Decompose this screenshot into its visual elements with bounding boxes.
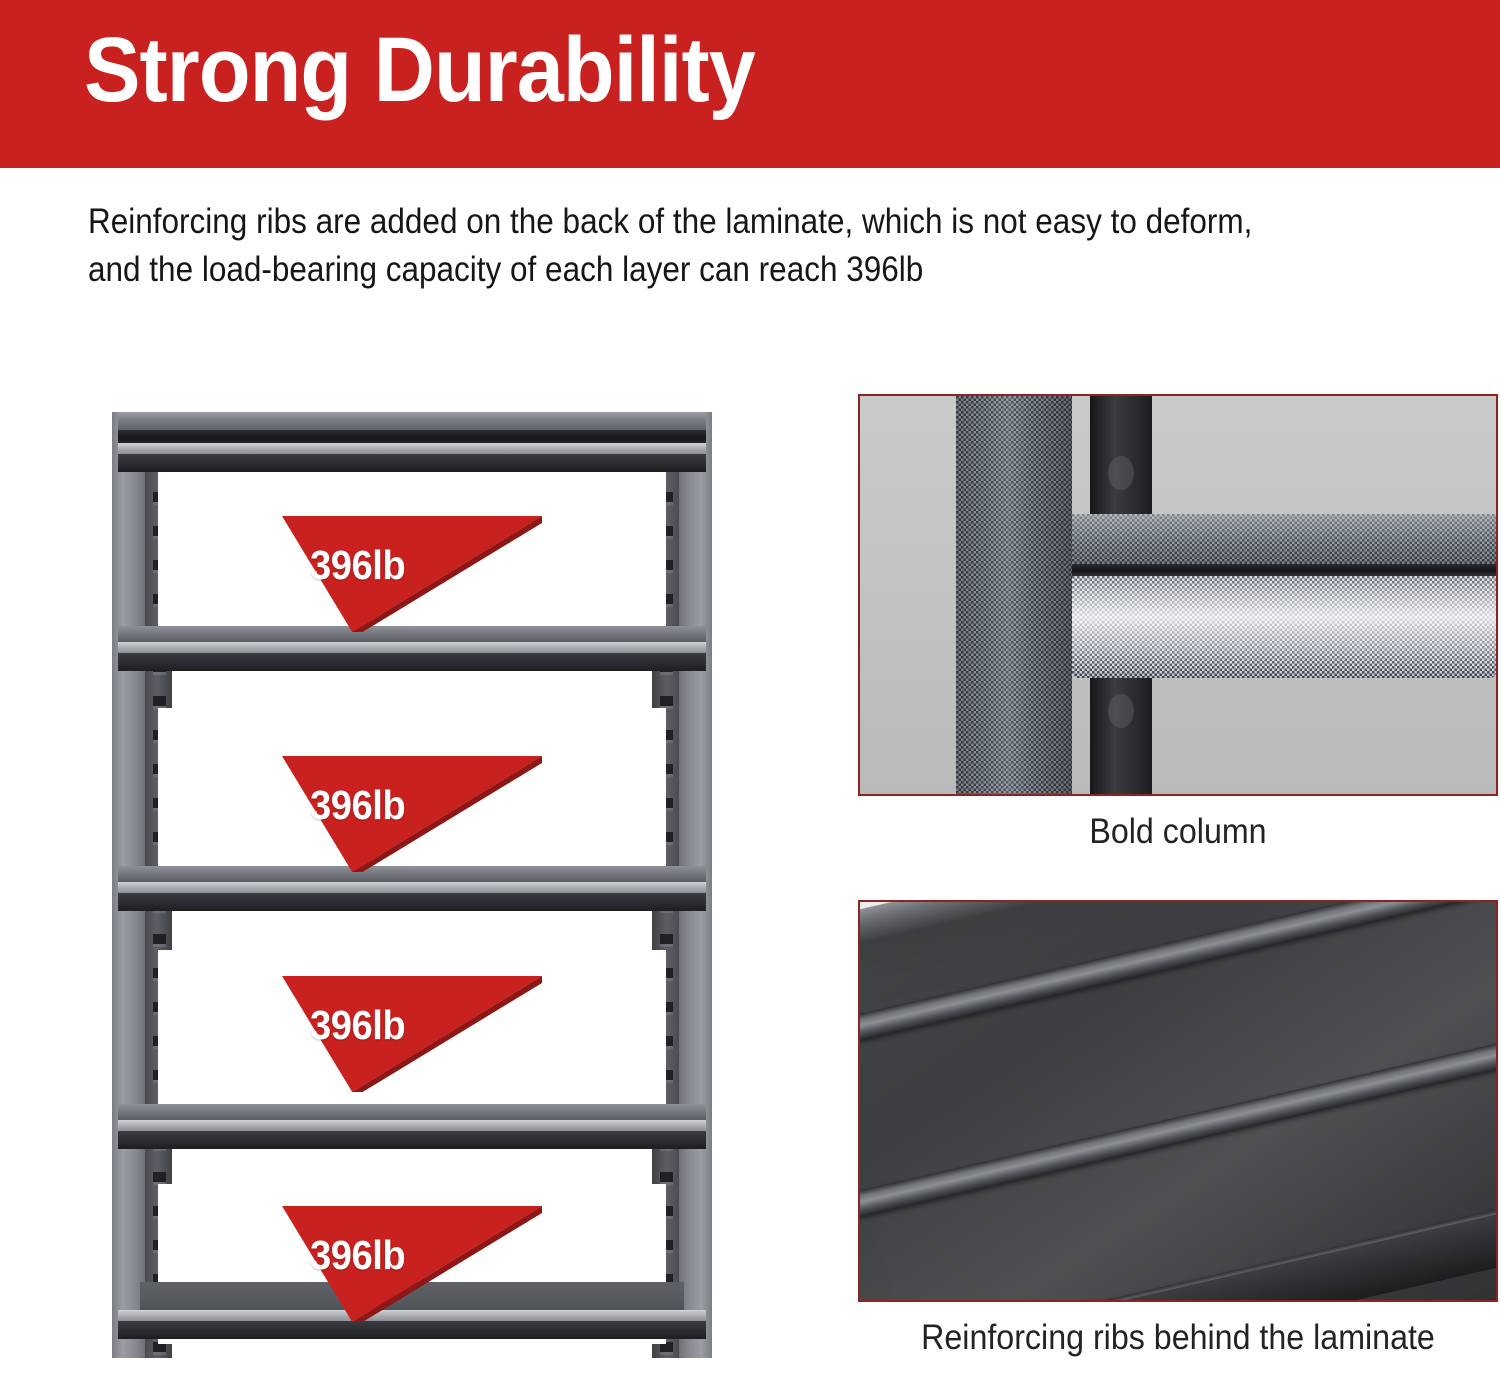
load-capacity-tag: 396lb <box>282 1206 542 1322</box>
subtitle-text: Reinforcing ribs are added on the back o… <box>88 198 1276 295</box>
load-capacity-label: 396lb <box>310 1002 405 1049</box>
caption-reinforcing-ribs: Reinforcing ribs behind the laminate <box>884 1318 1473 1358</box>
shelf-beam <box>118 1104 706 1149</box>
infographic-page: Strong Durability Reinforcing ribs are a… <box>0 0 1500 1390</box>
load-capacity-label: 396lb <box>310 542 405 589</box>
reinforcing-rib <box>858 1014 1498 1233</box>
load-capacity-label: 396lb <box>310 782 405 829</box>
subtitle-line-2: and the load-bearing capacity of each la… <box>88 246 1276 294</box>
reinforcing-rib <box>858 900 1498 1065</box>
shelf-beam <box>118 866 706 911</box>
subtitle-line-1: Reinforcing ribs are added on the back o… <box>88 198 1276 246</box>
load-capacity-tag: 396lb <box>282 976 542 1092</box>
load-capacity-tag: 396lb <box>282 516 542 632</box>
photo-panel-reinforcing-ribs <box>858 900 1498 1302</box>
shelf-beam-top <box>118 412 706 472</box>
page-title: Strong Durability <box>84 22 755 119</box>
load-capacity-tag: 396lb <box>282 756 542 872</box>
front-column <box>956 396 1072 794</box>
shelving-unit-illustration: 396lb 396lb 396lb 396lb <box>112 398 712 1358</box>
beam-lower-tube <box>1072 576 1496 678</box>
photo-panel-bold-column <box>858 394 1498 796</box>
shelf-beam <box>118 626 706 671</box>
beam-seam <box>1072 564 1496 576</box>
beam-upper-face <box>1072 514 1496 564</box>
caption-bold-column: Bold column <box>884 812 1473 852</box>
header-banner: Strong Durability <box>0 0 1500 168</box>
load-capacity-label: 396lb <box>310 1232 405 1279</box>
